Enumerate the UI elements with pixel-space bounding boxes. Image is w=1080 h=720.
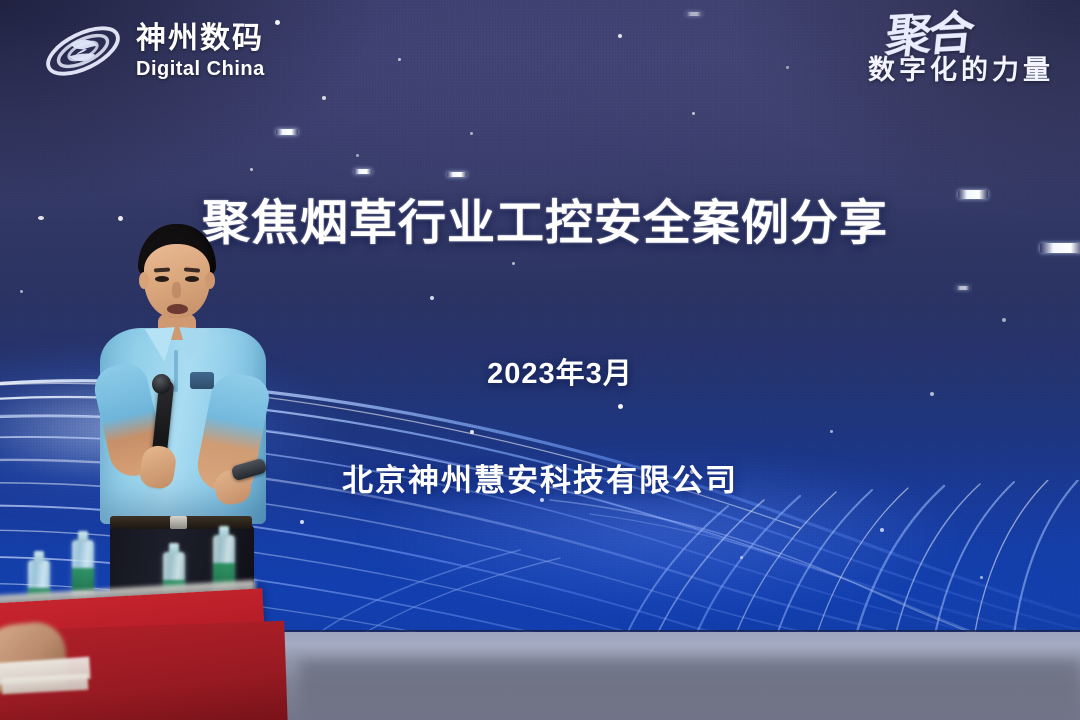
particle-dot <box>692 112 695 115</box>
digital-china-swirl-icon <box>40 20 126 82</box>
particle-dot <box>980 576 983 579</box>
particle-dot <box>740 556 743 559</box>
juhe-calligraphy: 聚合 <box>865 11 972 60</box>
wave-glow-bloom-secondary <box>250 420 1080 640</box>
brand-name-en: Digital China <box>136 59 265 79</box>
stage-floor-shadow <box>300 660 1080 720</box>
particle-dot <box>830 430 833 433</box>
particle-dot <box>322 96 326 100</box>
particle-dot <box>470 132 473 135</box>
particle-dot <box>786 66 789 69</box>
particle-dot <box>430 296 434 300</box>
juhe-event-logo: 聚合 数字化的力量 <box>868 14 1054 87</box>
presenter-ear-right <box>205 272 215 289</box>
particle-dot <box>470 430 474 434</box>
particle-dot <box>618 404 623 409</box>
presenter-eye-left <box>155 276 169 282</box>
particle-dot <box>275 20 280 25</box>
presenter-eye-right <box>185 276 199 282</box>
presenter-shirt-placket <box>174 350 178 392</box>
particle-dot <box>20 290 23 293</box>
light-streak <box>447 172 467 177</box>
bottle-label <box>72 568 94 592</box>
digital-china-wordmark: 神州数码 Digital China <box>136 24 265 79</box>
light-streak <box>956 286 970 290</box>
presenter-ear-left <box>139 272 149 289</box>
stage-photo-scene: 神州数码 Digital China 聚合 数字化的力量 聚焦烟草行业工控安全案… <box>0 0 1080 720</box>
particle-dot <box>880 528 884 532</box>
particle-dot <box>398 58 401 61</box>
particle-dot <box>250 168 253 171</box>
particle-dot <box>618 34 622 38</box>
light-streak <box>354 169 372 174</box>
light-streak <box>276 129 298 135</box>
particle-dot <box>930 392 934 396</box>
particle-dot <box>300 520 304 524</box>
brand-name-cn: 神州数码 <box>136 24 265 54</box>
particle-dot <box>512 262 515 265</box>
light-streak <box>686 12 702 16</box>
particle-dot <box>1002 318 1006 322</box>
presenter-mouth <box>167 304 188 314</box>
presenter-nose <box>172 282 181 298</box>
presenter-chest-logo <box>190 372 214 389</box>
presenter-belt-buckle <box>170 516 187 529</box>
particle-dot <box>356 154 359 157</box>
digital-china-logo: 神州数码 Digital China <box>40 20 265 82</box>
